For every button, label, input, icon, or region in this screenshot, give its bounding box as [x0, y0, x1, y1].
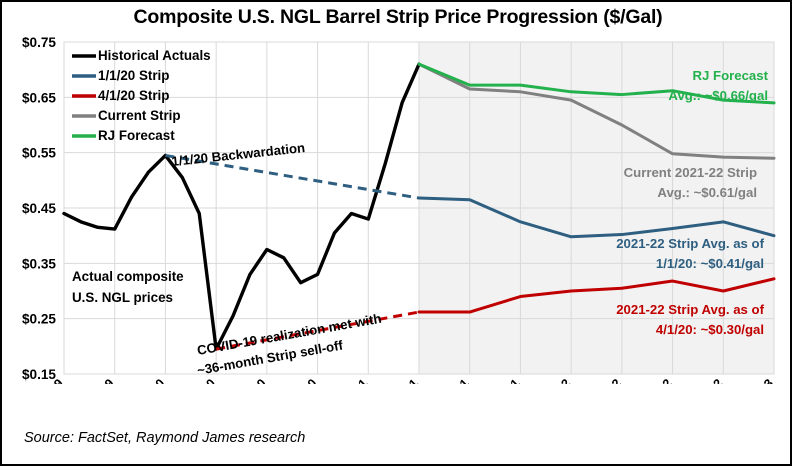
chart-title: Composite U.S. NGL Barrel Strip Price Pr… — [2, 6, 792, 29]
x-tick-label: 1/1/20 — [133, 376, 168, 384]
y-tick-label: $0.55 — [22, 146, 56, 161]
chart-frame: Composite U.S. NGL Barrel Strip Price Pr… — [0, 0, 792, 466]
x-tick-label: 10/1/21 — [483, 376, 523, 384]
chart-legend: Historical Actuals1/1/20 Strip4/1/20 Str… — [72, 48, 211, 143]
legend-item-label: 1/1/20 Strip — [98, 68, 169, 83]
annotation-rj-forecast-l1: RJ Forecast — [693, 68, 769, 83]
y-tick-label: $0.25 — [22, 312, 56, 327]
x-tick-label: 1/1/22 — [539, 376, 574, 384]
plot-area-wrapper: $0.15$0.25$0.35$0.45$0.55$0.65$0.75 7/1/… — [2, 34, 792, 384]
x-tick-label: 7/1/22 — [640, 376, 675, 384]
x-axis-tick-labels: 7/1/1910/1/191/1/204/1/207/1/2010/1/201/… — [31, 376, 776, 384]
source-note: Source: FactSet, Raymond James research — [24, 430, 305, 446]
x-tick-label: 7/1/21 — [437, 376, 472, 384]
annotation-red-strip-l2: 4/1/20: ~$0.30/gal — [656, 322, 764, 337]
x-tick-label: 10/1/20 — [280, 376, 320, 384]
x-tick-label: 1/1/23 — [741, 376, 776, 384]
y-tick-label: $0.65 — [22, 90, 56, 105]
legend-item-label: RJ Forecast — [98, 128, 175, 143]
chart-svg: $0.15$0.25$0.35$0.45$0.55$0.65$0.75 7/1/… — [2, 34, 792, 384]
annotation-blue-strip-l1: 2021-22 Strip Avg. as of — [616, 236, 764, 251]
legend-item-label: Historical Actuals — [98, 48, 211, 63]
annotation-rj-forecast-l2: Avg.: ~$0.66/gal — [668, 88, 768, 103]
x-tick-label: 7/1/20 — [234, 376, 269, 384]
annotation-backwardation: 1/1/20 Backwardation — [171, 140, 306, 169]
x-tick-label: 10/1/22 — [686, 376, 726, 384]
x-tick-label: 1/1/21 — [336, 376, 371, 384]
legend-item-label: 4/1/20 Strip — [98, 88, 169, 103]
x-tick-label: 4/1/22 — [589, 376, 624, 384]
y-axis-tick-labels: $0.15$0.25$0.35$0.45$0.55$0.65$0.75 — [22, 35, 56, 382]
legend-item-label: Current Strip — [98, 108, 181, 123]
y-tick-label: $0.45 — [22, 201, 56, 216]
annotation-red-strip-l1: 2021-22 Strip Avg. as of — [616, 302, 764, 317]
x-tick-label: 10/1/19 — [77, 376, 117, 384]
annotation-current-strip-l2: Avg.: ~$0.61/gal — [657, 185, 757, 200]
annotation-blue-strip-l2: 1/1/20: ~$0.41/gal — [656, 256, 764, 271]
y-tick-label: $0.35 — [22, 256, 56, 271]
y-tick-label: $0.75 — [22, 35, 56, 50]
annotation-actual-composite-l2: U.S. NGL prices — [72, 290, 173, 305]
x-tick-label: 4/1/21 — [386, 376, 421, 384]
y-tick-label: $0.15 — [22, 367, 56, 382]
annotation-current-strip-l1: Current 2021-22 Strip — [624, 165, 757, 180]
annotation-actual-composite-l1: Actual composite — [72, 269, 184, 284]
